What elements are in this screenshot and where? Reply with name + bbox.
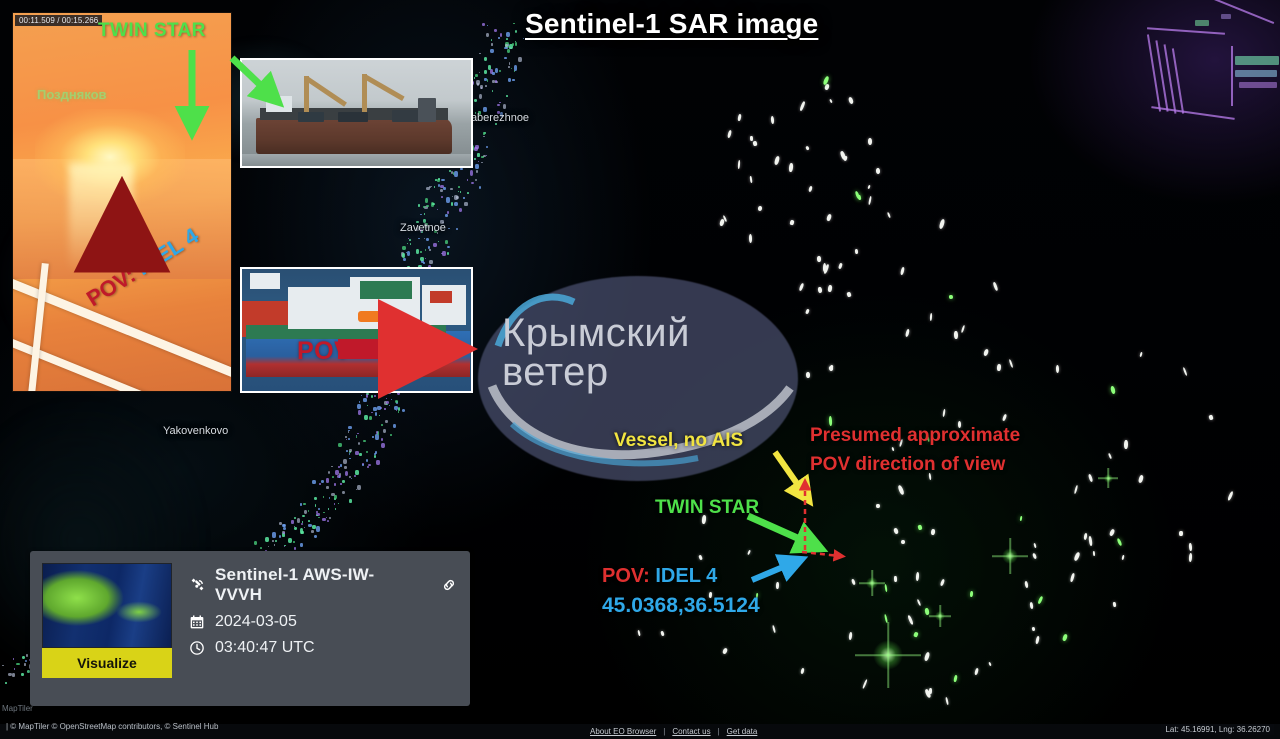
photo-superstructure — [418, 98, 436, 122]
map-attribution: | © MapTiler © OpenStreetMap contributor… — [6, 722, 218, 731]
coast-speckle — [312, 480, 316, 484]
page-title: Sentinel-1 SAR image — [525, 8, 818, 40]
coast-speckle — [514, 65, 517, 70]
coast-speckle — [374, 455, 376, 458]
metadata-row-dataset: Sentinel-1 AWS-IW-VVVH — [188, 565, 458, 605]
coast-speckle — [348, 426, 352, 429]
coast-speckle — [343, 459, 347, 464]
coast-speckle — [340, 483, 341, 484]
coast-speckle — [275, 540, 277, 542]
coast-speckle — [26, 654, 28, 656]
coast-speckle — [374, 453, 376, 455]
sar-vessel-return — [894, 576, 897, 582]
sun-reflection — [69, 163, 133, 273]
sar-vessel-return — [789, 220, 794, 226]
visualize-button[interactable]: Visualize — [42, 648, 172, 678]
photo-water — [242, 154, 471, 168]
scene-metadata: Sentinel-1 AWS-IW-VVVH — [188, 563, 458, 694]
coast-speckle — [358, 410, 361, 415]
harbour-infrastructure — [1135, 0, 1280, 145]
coast-speckle — [302, 515, 305, 518]
coast-speckle — [349, 449, 351, 452]
metadata-row-date: 2024-03-05 — [188, 613, 458, 631]
acquisition-time: 03:40:47 UTC — [215, 639, 315, 657]
sar-vessel-return — [876, 504, 880, 509]
footer-links[interactable]: About EO Browser | Contact us | Get data — [590, 727, 757, 736]
coast-speckle — [272, 532, 276, 537]
sar-vessel-return — [929, 688, 932, 694]
coast-speckle — [316, 526, 320, 531]
coast-speckle — [369, 416, 373, 419]
photo-aerial-stern-red — [430, 291, 452, 303]
video-timestamp: 00:11.509 / 00:15.266 — [15, 15, 102, 26]
photo-container-2 — [338, 112, 368, 122]
coast-speckle — [513, 23, 514, 24]
maptiler-logo[interactable]: MapTiler — [2, 704, 33, 713]
place-label-zavetnoe: Zavetnoe — [400, 222, 446, 234]
photo-ship-in-port[interactable] — [240, 58, 473, 168]
coast-speckle — [477, 153, 480, 157]
sar-vessel-return — [1179, 531, 1183, 536]
ship-railing-post — [28, 263, 49, 392]
coast-speckle — [260, 547, 262, 549]
coast-speckle — [301, 523, 303, 525]
coast-speckle — [372, 436, 374, 438]
coast-speckle — [291, 520, 294, 523]
coast-speckle — [518, 57, 521, 62]
coast-speckle — [484, 57, 487, 61]
coast-speckle — [377, 406, 381, 410]
coast-speckle — [440, 189, 443, 192]
link-icon[interactable] — [440, 576, 458, 594]
coast-speckle — [492, 72, 494, 75]
satellite-icon — [188, 576, 206, 594]
coast-speckle — [428, 246, 430, 249]
dataset-name: Sentinel-1 AWS-IW-VVVH — [215, 565, 421, 605]
coast-speckle — [486, 155, 487, 157]
coast-speckle — [497, 104, 500, 106]
coast-speckle — [254, 541, 257, 544]
thumbnail-wrapper: Visualize — [42, 563, 172, 694]
coast-speckle — [503, 104, 507, 108]
coast-speckle — [378, 393, 380, 395]
coast-speckle — [483, 136, 485, 137]
coast-speckle — [425, 258, 426, 259]
coast-speckle — [446, 197, 450, 202]
annotation-pov-vessel: IDEL 4 — [655, 565, 717, 587]
cursor-latlng-readout: Lat: 45.16991, Lng: 36.26270 — [1161, 724, 1274, 735]
link-contact-us[interactable]: Contact us — [672, 727, 710, 736]
coast-speckle — [458, 186, 459, 188]
coast-speckle — [498, 37, 500, 39]
coast-speckle — [432, 203, 435, 205]
coast-speckle — [334, 503, 335, 505]
sar-bright-flare — [935, 611, 945, 621]
coast-speckle — [508, 78, 511, 81]
annotation-coordinates: 45.0368,36.5124 — [602, 594, 760, 618]
calendar-icon — [188, 613, 206, 631]
coast-speckle — [476, 80, 480, 85]
acquisition-date: 2024-03-05 — [215, 613, 297, 631]
photo-crane-jib-2 — [364, 75, 405, 101]
coast-speckle — [334, 483, 336, 486]
metadata-row-time: 03:40:47 UTC — [188, 639, 458, 657]
coast-speckle — [8, 673, 11, 676]
photo-aerial-superstructure — [288, 287, 350, 329]
sar-bright-flare — [1002, 548, 1018, 564]
place-label-yakovenkovo: Yakovenkovo — [163, 425, 228, 437]
photo-ship-aerial[interactable] — [240, 267, 473, 393]
coast-speckle — [348, 431, 349, 433]
coast-speckle — [21, 673, 24, 677]
coast-speckle — [463, 197, 464, 199]
coast-speckle — [340, 464, 342, 466]
coast-speckle — [344, 466, 347, 468]
coast-speckle — [441, 253, 442, 254]
coast-speckle — [390, 434, 392, 436]
coast-speckle — [483, 132, 485, 134]
coast-speckle — [507, 49, 511, 53]
link-get-data[interactable]: Get data — [727, 727, 758, 736]
coast-speckle — [349, 499, 352, 503]
coast-speckle — [476, 170, 478, 173]
coast-speckle — [429, 249, 431, 251]
annotation-presumed-line1: Presumed approximate — [810, 421, 1020, 450]
coast-speckle — [308, 520, 310, 522]
coast-speckle — [499, 70, 501, 72]
sar-vessel-return — [817, 256, 821, 262]
coast-speckle — [328, 508, 329, 510]
coast-speckle — [346, 439, 347, 440]
coast-speckle — [450, 188, 453, 190]
photo-aerial-pov-label: POV — [297, 337, 351, 366]
coast-speckle — [402, 246, 406, 250]
coast-speckle — [322, 518, 325, 521]
coast-speckle — [376, 460, 380, 464]
coast-speckle — [348, 438, 350, 440]
coast-speckle — [308, 524, 312, 527]
coast-speckle — [488, 65, 491, 69]
watermark-line-1: Крымский — [502, 314, 782, 353]
coast-speckle — [393, 424, 396, 428]
coast-speckle — [515, 30, 517, 33]
coast-speckle — [398, 411, 399, 412]
coast-speckle — [24, 663, 26, 665]
coast-speckle — [481, 162, 483, 163]
coast-speckle — [523, 38, 524, 39]
screenshot-root: Sentinel-1 SAR image Naberezhnoe Zavetno… — [0, 0, 1280, 739]
coast-speckle — [391, 399, 392, 400]
coast-speckle — [304, 510, 307, 514]
clock-icon — [188, 639, 206, 657]
coast-speckle — [420, 251, 422, 252]
sar-vessel-return — [775, 582, 778, 589]
coast-speckle — [447, 211, 449, 213]
scene-thumbnail[interactable] — [42, 563, 172, 648]
coast-speckle — [311, 530, 314, 532]
coast-speckle — [480, 85, 483, 89]
coast-speckle — [342, 480, 345, 483]
coast-speckle — [441, 179, 444, 181]
coast-speckle — [511, 68, 512, 69]
video-twin-star-label: TWIN STAR — [98, 20, 206, 42]
annotation-pov-prefix: POV: — [602, 565, 650, 587]
coast-speckle — [418, 238, 420, 239]
coast-speckle — [431, 186, 432, 188]
coast-speckle — [300, 543, 303, 547]
coast-speckle — [482, 23, 485, 26]
footer-separator-1: | — [663, 727, 665, 736]
sar-vessel-return — [750, 136, 753, 141]
eo-browser-info-card[interactable]: Visualize Sentinel-1 AWS-IW-VVVH — [30, 551, 470, 706]
coast-speckle — [508, 66, 510, 68]
sar-vessel-return — [924, 607, 929, 614]
coast-speckle — [490, 49, 494, 53]
coast-speckle — [394, 406, 398, 410]
coast-speckle — [338, 466, 340, 468]
link-about-eo-browser[interactable]: About EO Browser — [590, 727, 656, 736]
coast-speckle — [456, 196, 459, 198]
coast-speckle — [364, 415, 367, 420]
coast-speckle — [506, 95, 508, 97]
coast-speckle — [426, 238, 429, 241]
coast-speckle — [355, 470, 359, 475]
photo-aerial-lifeboat — [358, 311, 390, 322]
coast-speckle — [495, 68, 498, 73]
coast-speckle — [363, 440, 365, 442]
coast-speckle — [381, 438, 383, 440]
watermark-line-2: ветер — [502, 353, 782, 392]
coast-speckle — [373, 407, 377, 411]
watermark-text: Крымский ветер — [502, 314, 782, 392]
photo-aerial-green-machinery — [360, 281, 412, 299]
coast-speckle — [375, 412, 378, 416]
footer-separator-2: | — [718, 727, 720, 736]
video-watermark-text: Поздняков — [37, 87, 107, 102]
sar-bright-flare — [866, 577, 878, 589]
coast-speckle — [312, 525, 316, 529]
coast-speckle — [447, 246, 450, 249]
coast-speckle — [314, 497, 317, 500]
coast-speckle — [491, 43, 493, 45]
coast-speckle — [294, 547, 296, 550]
coast-speckle — [13, 658, 14, 659]
coast-speckle — [359, 453, 361, 456]
coast-speckle — [16, 663, 20, 666]
coast-speckle — [433, 243, 436, 247]
coast-speckle — [420, 257, 424, 261]
coast-speckle — [301, 531, 304, 534]
photo-crane-jib-1 — [306, 77, 347, 107]
annotation-presumed-pov: Presumed approximate POV direction of vi… — [810, 421, 1020, 480]
coast-speckle — [504, 57, 507, 59]
coast-speckle — [303, 503, 305, 505]
coast-speckle — [345, 436, 347, 438]
coast-speckle — [475, 145, 479, 149]
coast-speckle — [385, 420, 388, 424]
coast-speckle — [346, 450, 348, 452]
coast-speckle — [326, 486, 328, 490]
annotation-vessel-no-ais: Vessel, no AIS — [614, 430, 743, 452]
coast-speckle — [323, 496, 325, 498]
coast-speckle — [506, 32, 510, 37]
coast-speckle — [495, 80, 497, 83]
photo-bridge — [266, 96, 292, 112]
sar-bright-flare — [873, 640, 903, 670]
coast-speckle — [357, 485, 361, 490]
coast-speckle — [381, 443, 385, 448]
coast-speckle — [12, 673, 14, 676]
sar-bright-flare — [1104, 474, 1113, 483]
photo-container-1 — [298, 112, 324, 122]
sar-vessel-return — [1124, 440, 1128, 449]
coast-speckle — [464, 202, 468, 206]
coast-speckle — [475, 164, 478, 169]
coast-speckle — [484, 78, 486, 81]
coast-speckle — [429, 260, 433, 264]
coast-speckle — [438, 178, 439, 180]
coast-speckle — [426, 187, 430, 191]
sar-vessel-return — [805, 372, 809, 378]
coast-speckle — [326, 517, 327, 518]
coast-speckle — [416, 249, 419, 254]
coast-speckle — [484, 70, 487, 74]
photo-aerial-bow-block — [250, 273, 280, 289]
coast-speckle — [454, 171, 458, 177]
photo-hull — [256, 118, 452, 154]
coast-speckle — [460, 168, 462, 171]
coast-speckle — [451, 202, 454, 206]
annotation-twin-star: TWIN STAR — [655, 497, 759, 519]
annotation-presumed-line2: POV direction of view — [810, 450, 1020, 479]
coast-speckle — [338, 443, 341, 447]
coast-speckle — [425, 249, 426, 251]
coast-speckle — [445, 240, 449, 243]
video-still-panel[interactable]: 00:11.509 / 00:15.266 Поздняков — [12, 12, 232, 392]
sar-vessel-return — [875, 167, 879, 173]
annotation-pov-idel: POV: IDEL 4 — [602, 565, 717, 588]
coast-speckle — [442, 251, 445, 256]
coast-speckle — [5, 682, 7, 684]
sar-vessel-return — [1055, 365, 1059, 373]
coast-speckle — [363, 398, 366, 402]
coast-speckle — [467, 179, 468, 181]
coast-speckle — [486, 146, 488, 148]
coast-speckle — [321, 480, 324, 483]
coast-speckle — [288, 538, 292, 543]
coast-speckle — [402, 253, 405, 257]
coast-speckle — [486, 33, 489, 38]
coast-speckle — [308, 510, 309, 511]
coast-speckle — [300, 503, 302, 505]
coast-speckle — [326, 478, 329, 482]
coast-speckle — [334, 495, 337, 499]
coast-speckle — [454, 202, 458, 206]
coast-speckle — [426, 205, 429, 207]
coast-speckle — [375, 434, 378, 439]
